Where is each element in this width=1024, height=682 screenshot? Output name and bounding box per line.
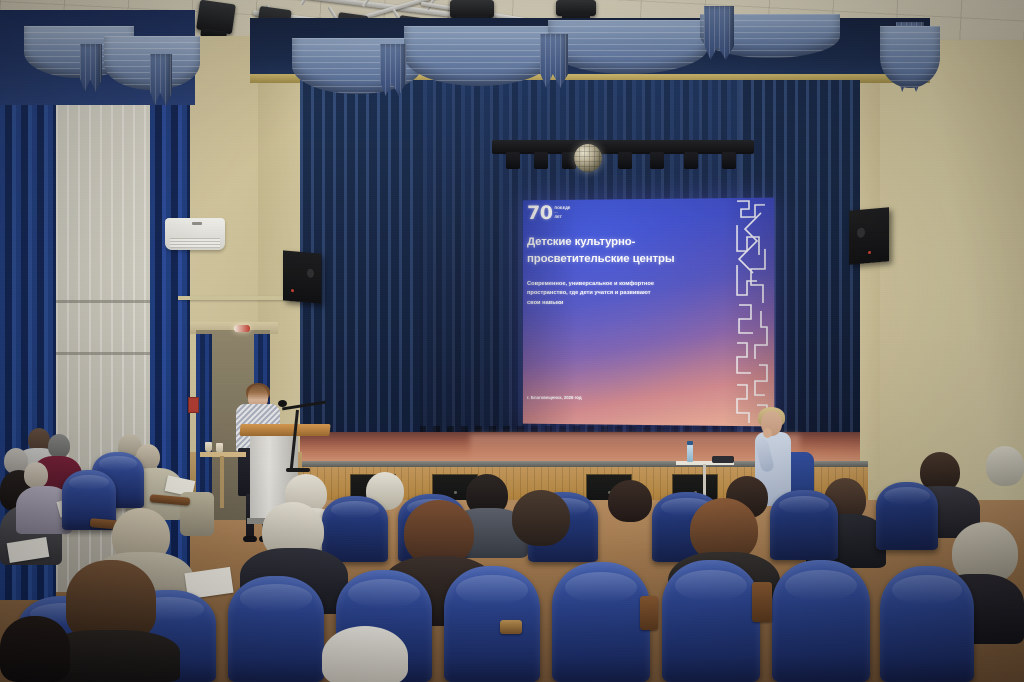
- bar-lamp-2: [534, 152, 548, 169]
- audience-head-l2: [48, 434, 70, 458]
- bar-lamp-4: [618, 152, 632, 169]
- bar-lamp-5: [650, 152, 664, 169]
- cup-1: [205, 442, 212, 452]
- bar-lamp-1: [506, 152, 520, 169]
- stage-valance-swag-5: [880, 26, 940, 88]
- front-chair-7: [662, 560, 760, 682]
- bar-lamp-7: [722, 152, 736, 169]
- armrest-front-1: [500, 620, 522, 634]
- audience-head-m4: [608, 480, 652, 522]
- projection-screen-shading: [523, 198, 774, 427]
- mirror-ball-facets: [574, 144, 602, 172]
- audience-head-near-far-left: [0, 616, 70, 682]
- front-chair-3: [228, 576, 324, 682]
- cup-2: [216, 443, 223, 453]
- stage-spotlight-6: [556, 0, 596, 16]
- side-table-left-leg: [220, 456, 224, 508]
- wall-speaker-right: [849, 207, 889, 264]
- audience-chair-m5: [770, 490, 838, 560]
- front-chair-5: [444, 566, 540, 682]
- audience-chair-m1: [322, 496, 388, 562]
- conference-hall-photo: 70 ПОБЕДЕ ... ЛЕТ Детские культурно- про…: [0, 0, 1024, 682]
- presenter-shoe-left: [243, 536, 257, 542]
- audience-head-near-left: [66, 560, 156, 640]
- water-bottle: [687, 444, 693, 462]
- water-bottle-cap: [687, 441, 693, 445]
- audience-head-m8: [986, 446, 1024, 486]
- podium-top: [239, 424, 330, 436]
- stage-spotlight-1: [196, 0, 236, 34]
- armrest-front-2: [752, 582, 772, 622]
- stage-spotlight-5: [450, 0, 494, 18]
- audience-head-near: [322, 626, 408, 682]
- microphone-base: [286, 468, 310, 472]
- stage-floor-reflection: [470, 434, 800, 462]
- remote-control: [712, 456, 734, 463]
- wall-speaker-left: [283, 250, 321, 303]
- bar-lamp-6: [684, 152, 698, 169]
- front-chair-6: [552, 562, 650, 682]
- exit-light: [234, 325, 250, 332]
- armrest-front-3: [640, 596, 658, 630]
- front-chair-9: [880, 566, 974, 682]
- stage-valance-swag-3: [548, 20, 708, 74]
- window-frame-bar-2: [56, 352, 156, 355]
- microphone-head: [278, 400, 287, 407]
- audience-chair-m6: [876, 482, 938, 550]
- audience-head-f4: [512, 490, 570, 546]
- audience-head-l5: [24, 462, 48, 488]
- guest-hand: [763, 428, 772, 438]
- air-conditioner-display: [192, 222, 202, 225]
- stage-valance-swag-2: [404, 26, 554, 86]
- fire-alarm-box: [188, 397, 199, 413]
- air-conditioner-vent: [170, 238, 220, 248]
- front-chair-8: [772, 560, 870, 682]
- window-frame-bar-1: [56, 300, 156, 303]
- doorway-drape-left: [196, 334, 212, 510]
